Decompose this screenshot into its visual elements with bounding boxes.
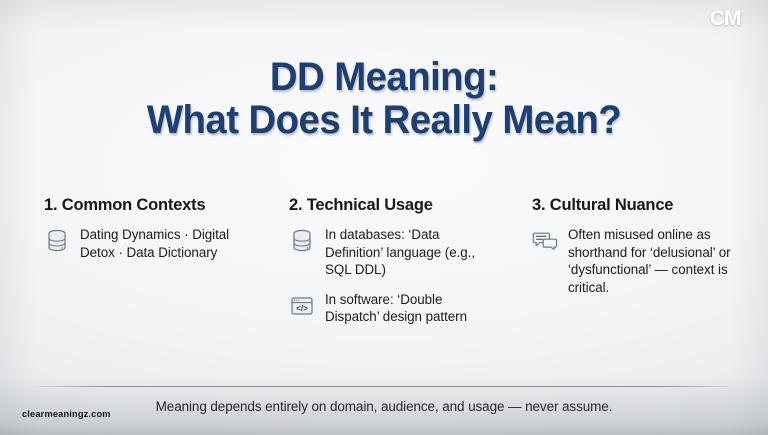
chat-bubbles-icon bbox=[532, 228, 558, 254]
column-heading: 2. Technical Usage bbox=[289, 196, 521, 215]
list-item: In databases: ‘Data Definition’ language… bbox=[289, 226, 521, 279]
svg-text:</>: </> bbox=[296, 304, 308, 313]
column-heading: 3. Cultural Nuance bbox=[532, 196, 747, 215]
logo-monogram: CM bbox=[696, 8, 754, 29]
column-heading: 1. Common Contexts bbox=[44, 196, 282, 215]
list-item: Dating Dynamics · Digital Detox · Data D… bbox=[44, 226, 282, 261]
slide-canvas: CM ClearMeaningz DD Meaning: What Does I… bbox=[0, 0, 768, 435]
list-item-text: Dating Dynamics · Digital Detox · Data D… bbox=[80, 226, 255, 261]
column-technical-usage: 2. Technical Usage In databases: ‘Data D… bbox=[289, 196, 521, 338]
code-window-icon: </> bbox=[289, 293, 315, 319]
content-columns: 1. Common Contexts Dating Dynamics · Dig… bbox=[0, 196, 768, 366]
footer-divider bbox=[36, 386, 730, 387]
page-title: DD Meaning: What Does It Really Mean? bbox=[0, 56, 768, 142]
list-item-text: Often misused online as shorthand for ‘d… bbox=[568, 226, 746, 296]
column-common-contexts: 1. Common Contexts Dating Dynamics · Dig… bbox=[44, 196, 282, 273]
list-item-text: In software: ‘Double Dispatch’ design pa… bbox=[325, 291, 490, 326]
brand-logo: CM ClearMeaningz bbox=[696, 8, 754, 42]
logo-wordmark: ClearMeaningz bbox=[696, 30, 754, 35]
footer-note: Meaning depends entirely on domain, audi… bbox=[0, 398, 768, 416]
site-url: clearmeaningz.com bbox=[22, 409, 111, 420]
title-line-2: What Does It Really Mean? bbox=[15, 99, 752, 142]
title-line-1: DD Meaning: bbox=[15, 56, 752, 99]
list-item-text: In databases: ‘Data Definition’ language… bbox=[325, 226, 490, 279]
database-icon bbox=[44, 228, 70, 254]
column-cultural-nuance: 3. Cultural Nuance Often misused online … bbox=[532, 196, 747, 308]
database-icon bbox=[289, 228, 315, 254]
list-item: Often misused online as shorthand for ‘d… bbox=[532, 226, 747, 296]
list-item: </> In software: ‘Double Dispatch’ desig… bbox=[289, 291, 521, 326]
